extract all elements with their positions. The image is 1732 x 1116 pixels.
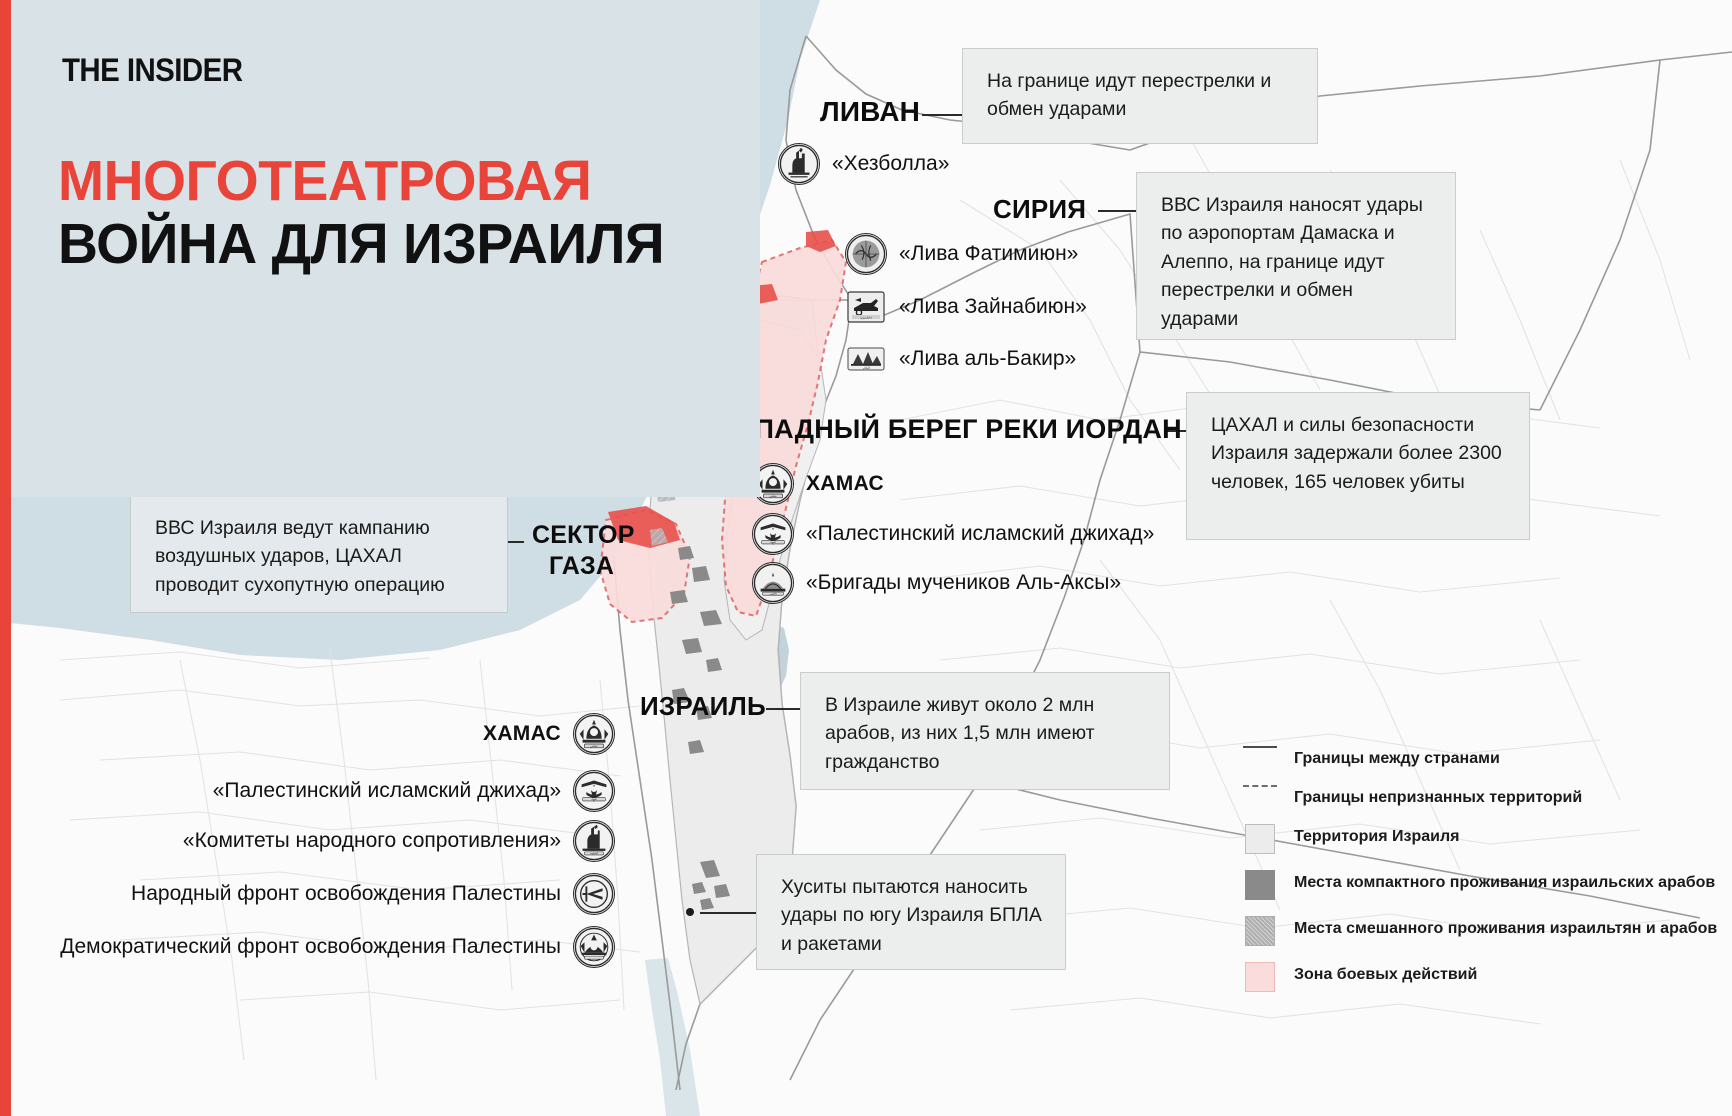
leader-line-syria [1098, 210, 1136, 212]
group-row-pflp-gaza: Народный фронт освобождения Палестины [131, 873, 615, 915]
group-row-prc-gaza: المقاومة «Комитеты народного сопротивлен… [183, 820, 615, 862]
accent-bar [0, 0, 11, 1116]
prc-emblem: المقاومة [573, 820, 615, 862]
country-label-lebanon: ЛИВАН [820, 96, 920, 128]
swatch-compact-arab-icon [1240, 868, 1280, 900]
country-label-israel: ИЗРАИЛЬ [640, 691, 766, 722]
group-row-hezbollah: «Хезболла» [778, 143, 949, 185]
legend-label-combat-zone: Зона боевых действий [1294, 960, 1477, 985]
group-label-dflp-gaza: Демократический фронт освобождения Палес… [60, 935, 561, 959]
pij-emblem: الجهاد [752, 513, 794, 555]
leader-line-houthi [700, 912, 758, 914]
svg-text:الأقصى: الأقصى [770, 593, 777, 596]
israel-callout: В Израиле живут около 2 млн арабов, из н… [800, 672, 1170, 790]
group-label-hezbollah: «Хезболла» [832, 152, 949, 176]
headline-line-1: МНОГОТЕАТРОВАЯ [58, 152, 698, 211]
page-title: МНОГОТЕАТРОВАЯ ВОЙНА ДЛЯ ИЗРАИЛЯ [58, 152, 718, 275]
leader-line-lebanon [922, 114, 962, 116]
country-label-gaza-line-2: ГАЗА [549, 552, 614, 581]
west-bank-callout: ЦАХАЛ и силы безопасности Израиля задерж… [1186, 392, 1530, 540]
svg-text:حماس: حماس [590, 744, 598, 748]
infographic-root: THE INSIDER МНОГОТЕАТРОВАЯ ВОЙНА ДЛЯ ИЗР… [0, 0, 1732, 1116]
country-label-west-bank: ЗАПАДНЫЙ БЕРЕГ РЕКИ ИОРДАН [718, 414, 1182, 445]
swatch-mixed-population-icon [1240, 914, 1280, 946]
pij-emblem: الجهاد [573, 770, 615, 812]
group-row-hamas-west-bank: حماس ХАМАС [752, 463, 884, 505]
legend-label-unrecognized-borders: Границы непризнанных территорий [1294, 783, 1582, 808]
group-row-liwa-fatemiyoun: «Лива Фатимиюн» [845, 233, 1078, 275]
map-legend: Границы между странами Границы непризнан… [1240, 744, 1720, 1006]
legend-country-borders: Границы между странами [1240, 744, 1720, 769]
zainabiyoun-emblem: فاطميون [845, 286, 887, 328]
hezbollah-emblem [778, 143, 820, 185]
group-label-liwa-fatemiyoun: «Лива Фатимиюн» [899, 242, 1078, 266]
al-aqsa-emblem: الأقصى [752, 562, 794, 604]
headline-line-2: ВОЙНА ДЛЯ ИЗРАИЛЯ [58, 215, 698, 274]
leader-line-israel [766, 708, 804, 710]
group-row-liwa-al-baqir: الباقر «Лива аль-Бакир» [845, 338, 1076, 380]
group-label-hamas-gaza: ХАМАС [483, 722, 561, 746]
svg-text:الجهاد: الجهاد [591, 798, 597, 801]
solid-line-icon [1240, 744, 1280, 748]
group-label-al-aqsa-west-bank: «Бригады мучеников Аль-Аксы» [806, 571, 1121, 595]
pflp-emblem [573, 873, 615, 915]
country-label-syria: СИРИЯ [993, 194, 1086, 225]
group-row-al-aqsa-west-bank: الأقصى «Бригады мучеников Аль-Аксы» [752, 562, 1121, 604]
group-row-dflp-gaza: Демократический фронт освобождения Палес… [60, 926, 615, 968]
group-label-pij-gaza: «Палестинский исламский джихад» [213, 779, 561, 803]
svg-text:الباقر: الباقر [861, 366, 870, 370]
legend-label-israel-territory: Территория Израиля [1294, 822, 1460, 847]
legend-mixed-population: Места смешанного проживания израильтян и… [1240, 914, 1720, 946]
legend-combat-zone: Зона боевых действий [1240, 960, 1720, 992]
brand-panel: THE INSIDER МНОГОТЕАТРОВАЯ ВОЙНА ДЛЯ ИЗР… [0, 0, 760, 497]
svg-text:فاطميون: فاطميون [860, 315, 872, 319]
gaza-callout: ВВС Израиля ведут кампанию воздушных уда… [130, 495, 508, 613]
group-row-pij-west-bank: الجهاد «Палестинский исламский джихад» [752, 513, 1154, 555]
hamas-emblem: حماس [573, 713, 615, 755]
svg-text:الجهاد: الجهاد [770, 541, 776, 544]
group-row-pij-gaza: الجهاد «Палестинский исламский джихад» [213, 770, 615, 812]
legend-compact-arab: Места компактного проживания израильских… [1240, 868, 1720, 900]
country-label-gaza-line-1: СЕКТОР [532, 521, 635, 550]
group-label-liwa-zainabiyoun: «Лива Зайнабиюн» [899, 295, 1087, 319]
the-insider-logo: THE INSIDER [62, 52, 242, 89]
dashed-line-icon [1240, 783, 1280, 787]
swatch-israel-territory-icon [1240, 822, 1280, 854]
group-label-hamas-west-bank: ХАМАС [806, 472, 884, 496]
legend-label-country-borders: Границы между странами [1294, 744, 1500, 769]
lebanon-callout: На границе идут перестрелки и обмен удар… [962, 48, 1318, 144]
group-row-hamas-gaza: حماس ХАМАС [483, 713, 615, 755]
syria-callout: ВВС Израиля наносят удары по аэропортам … [1136, 172, 1456, 340]
legend-israel-territory: Территория Израиля [1240, 822, 1720, 854]
baqir-emblem: الباقر [845, 338, 887, 380]
houthi-callout: Хуситы пытаются наносить удары по югу Из… [756, 854, 1066, 970]
svg-text:حماس: حماس [769, 494, 777, 498]
swatch-combat-zone-icon [1240, 960, 1280, 992]
group-row-liwa-zainabiyoun: فاطميون «Лива Зайнабиюн» [845, 286, 1087, 328]
svg-text:المقاومة: المقاومة [590, 852, 598, 855]
legend-label-compact-arab: Места компактного проживания израильских… [1294, 868, 1715, 893]
legend-label-mixed-population: Места смешанного проживания израильтян и… [1294, 914, 1717, 939]
dflp-emblem [573, 926, 615, 968]
group-label-liwa-al-baqir: «Лива аль-Бакир» [899, 347, 1076, 371]
legend-unrecognized-borders: Границы непризнанных территорий [1240, 783, 1720, 808]
group-label-prc-gaza: «Комитеты народного сопротивления» [183, 829, 561, 853]
leader-dot-houthi [686, 908, 694, 916]
group-label-pij-west-bank: «Палестинский исламский джихад» [806, 522, 1154, 546]
fatemiyoun-emblem [845, 233, 887, 275]
group-label-pflp-gaza: Народный фронт освобождения Палестины [131, 882, 561, 906]
